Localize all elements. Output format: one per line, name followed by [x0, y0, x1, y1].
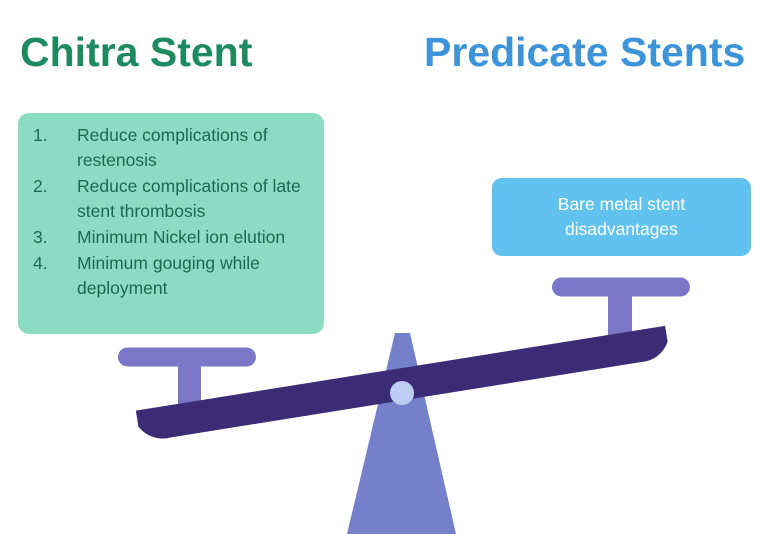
list-item-number: 2. — [33, 174, 67, 199]
list-item: 1. Reduce complications of restenosis — [28, 123, 316, 173]
disadvantages-card-label: Bare metal stent disadvantages — [558, 192, 685, 242]
page-title-chitra-stent: Chitra Stent — [20, 32, 252, 73]
chitra-advantages-card: 1. Reduce complications of restenosis 2.… — [18, 113, 324, 334]
list-item: 3. Minimum Nickel ion elution — [28, 225, 316, 250]
list-item-label: Reduce complications of restenosis — [77, 125, 268, 170]
page-title-predicate-stents: Predicate Stents — [424, 32, 745, 73]
list-item-label: Minimum gouging while deployment — [77, 253, 260, 298]
predicate-disadvantages-card: Bare metal stent disadvantages — [492, 178, 751, 256]
pivot-dot — [390, 381, 414, 405]
list-item: 2. Reduce complications of late stent th… — [28, 174, 316, 224]
advantages-list: 1. Reduce complications of restenosis 2.… — [28, 123, 316, 301]
list-item-number: 4. — [33, 251, 67, 276]
list-item-label: Minimum Nickel ion elution — [77, 227, 285, 247]
slide-canvas: Chitra Stent Predicate Stents 1. Reduce … — [0, 0, 773, 534]
list-item-number: 3. — [33, 225, 67, 250]
list-item: 4. Minimum gouging while deployment — [28, 251, 316, 301]
list-item-number: 1. — [33, 123, 67, 148]
list-item-label: Reduce complications of late stent throm… — [77, 176, 301, 221]
